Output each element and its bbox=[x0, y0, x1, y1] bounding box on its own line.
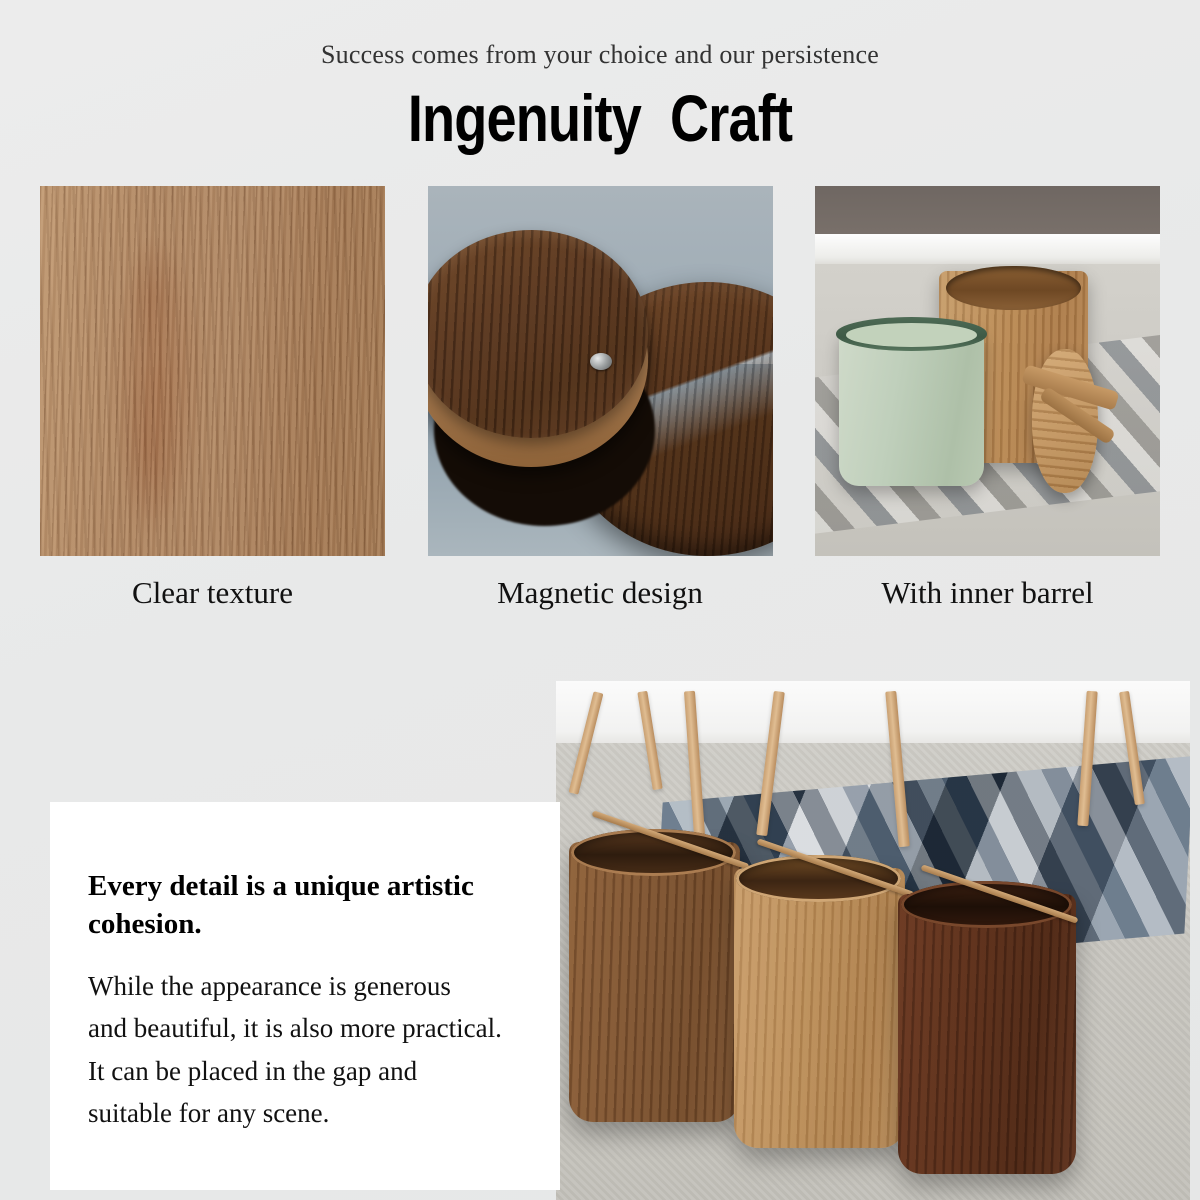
tagline: Success comes from your choice and our p… bbox=[0, 40, 1200, 70]
bin-walnut bbox=[569, 842, 740, 1122]
description-body: While the appearance is generous and bea… bbox=[88, 965, 512, 1133]
hero-product-photo bbox=[556, 681, 1190, 1200]
bin-dark-walnut bbox=[898, 894, 1076, 1174]
caption-clear-texture: Clear texture bbox=[40, 575, 385, 621]
description-lead: Every detail is a unique artistic cohesi… bbox=[88, 868, 512, 943]
caption-magnetic-design: Magnetic design bbox=[428, 575, 773, 621]
green-bucket-interior bbox=[846, 323, 977, 347]
feature-image-inner-barrel bbox=[815, 186, 1160, 556]
caption-with-inner-barrel: With inner barrel bbox=[815, 575, 1160, 621]
description-line: It can be placed in the gap and bbox=[88, 1050, 512, 1092]
feature-caption-row: Clear texture Magnetic design With inner… bbox=[40, 575, 1160, 621]
feature-image-clear-texture bbox=[40, 186, 385, 556]
feature-thumbnail-row bbox=[40, 186, 1160, 556]
wood-bin-opening bbox=[946, 266, 1081, 310]
magnet-disc-icon bbox=[590, 353, 612, 370]
description-line: suitable for any scene. bbox=[88, 1092, 512, 1134]
baseboard bbox=[815, 234, 1160, 267]
product-infographic-page: Success comes from your choice and our p… bbox=[0, 0, 1200, 1200]
description-line: While the appearance is generous bbox=[88, 965, 512, 1007]
description-line: and beautiful, it is also more practical… bbox=[88, 1007, 512, 1049]
page-title: Ingenuity Craft bbox=[108, 84, 1092, 153]
description-card: Every detail is a unique artistic cohesi… bbox=[50, 802, 560, 1190]
feature-image-magnetic-design bbox=[428, 186, 773, 556]
bin-oak bbox=[734, 868, 905, 1148]
